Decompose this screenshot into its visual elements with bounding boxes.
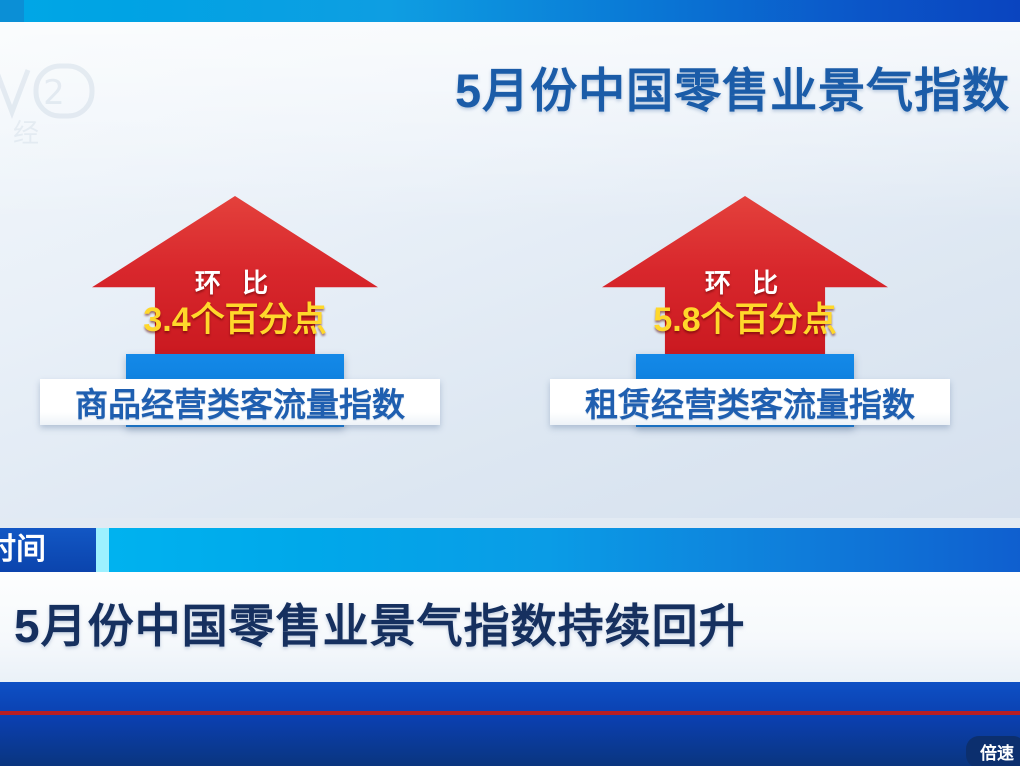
metric-name: 商品经营类客流量指数 (75, 379, 405, 425)
headline-text: 5月份中国零售业景气指数持续回升 (14, 590, 746, 656)
headline-panel: 5月份中国零售业景气指数持续回升 (0, 572, 1020, 682)
top-strip-accent (0, 0, 24, 22)
change-value: 3.4个百分点 (92, 303, 378, 337)
metric-name: 租赁经营类客流量指数 (585, 379, 915, 425)
metric-card-lease: 环 比 5.8个百分点 57.2% 租赁经营类客流量指数 (550, 196, 950, 446)
broadcast-stage: 2 经 5月份中国零售业景气指数 环 比 3.4个百分点 54.9% 商品经营类… (0, 0, 1020, 766)
cctv2-logo-watermark: 2 经 (0, 52, 114, 148)
graphic-title-text: 5月份中国零售业景气指数 (455, 64, 1010, 117)
metric-name-bar: 租赁经营类客流量指数 (550, 379, 950, 425)
metric-card-commodity: 环 比 3.4个百分点 54.9% 商品经营类客流量指数 (40, 196, 440, 446)
change-value: 5.8个百分点 (602, 303, 888, 337)
compare-label: 环 比 (602, 270, 888, 296)
svg-text:经: 经 (13, 119, 39, 148)
playback-speed-badge[interactable]: 倍速 (966, 736, 1020, 766)
up-arrow-icon: 环 比 3.4个百分点 (92, 196, 378, 362)
compare-label: 环 比 (92, 270, 378, 296)
news-ticker: « 5日，道琼斯工业平均指数收于33674.38点，涨幅为1.65%。 « 5 (0, 682, 1020, 766)
lower-third-divider (96, 528, 109, 572)
graphic-title: 5月份中国零售业景气指数 (455, 60, 1020, 122)
lower-third-kicker: 时间 (0, 528, 96, 572)
up-arrow-icon: 环 比 5.8个百分点 (602, 196, 888, 362)
ticker-red-line (0, 711, 1020, 715)
svg-text:2: 2 (43, 73, 65, 113)
metric-name-bar: 商品经营类客流量指数 (40, 379, 440, 425)
panel-sheen (0, 22, 1020, 222)
lower-third-bar: 时间 (0, 528, 1020, 572)
lower-third-kicker-text: 时间 (0, 532, 46, 568)
top-gradient-strip (0, 0, 1020, 22)
lower-third-gradient (109, 528, 1020, 572)
